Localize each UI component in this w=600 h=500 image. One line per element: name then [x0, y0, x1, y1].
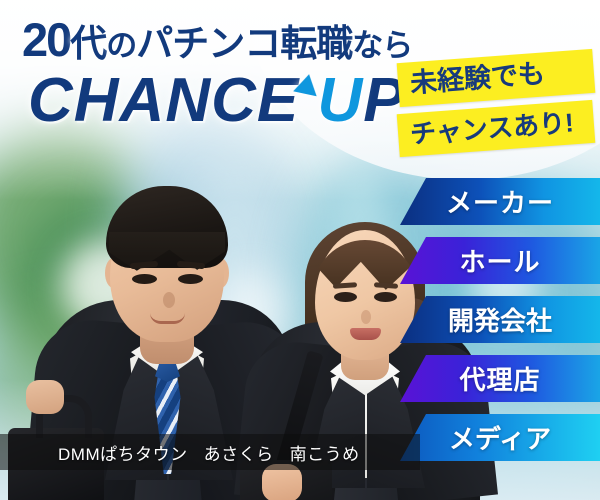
catch-badge: 未経験でも チャンスあり! — [398, 56, 594, 150]
caption-name-2: 南こうめ — [290, 440, 360, 465]
category-label: 代理店 — [459, 360, 540, 397]
category-list: メーカー ホール 開発会社 代理店 メディア — [400, 178, 600, 473]
headline-number: 20 — [22, 13, 70, 66]
caption-site: DMMぱちタウン — [58, 440, 188, 465]
chance-up-logo: CHANCE UP — [28, 70, 406, 132]
catch-badge-line2: チャンスあり! — [397, 100, 596, 157]
logo-letter-u: U — [317, 70, 363, 132]
category-button-maker[interactable]: メーカー — [400, 178, 600, 225]
headline-text: 20代のパチンコ転職なら — [22, 16, 412, 63]
man-nose — [163, 292, 175, 308]
woman-eye-left — [334, 292, 357, 302]
headline-part1: 代 — [70, 23, 106, 64]
man-mouth — [150, 313, 185, 324]
headline-part3: パチンコ転職 — [136, 23, 352, 64]
catch-badge-line1: 未経験でも — [397, 49, 596, 107]
caption-bar: DMMぱちタウン あさくら 南こうめ — [0, 434, 420, 470]
category-button-hall[interactable]: ホール — [400, 237, 600, 284]
man-hand — [26, 380, 64, 414]
category-button-agency[interactable]: 代理店 — [400, 355, 600, 402]
recruitment-banner[interactable]: 20代のパチンコ転職なら CHANCE UP 未経験でも チャンスあり! メーカ… — [0, 0, 600, 500]
woman-mouth — [350, 328, 381, 340]
woman-eye-right — [374, 292, 397, 302]
logo-word-chance: CHANCE — [28, 66, 299, 135]
caption-name-1: あさくら — [204, 440, 274, 465]
category-button-media[interactable]: メディア — [400, 414, 600, 461]
category-button-development[interactable]: 開発会社 — [400, 296, 600, 343]
category-label: 開発会社 — [448, 301, 552, 338]
man-eye-left — [132, 274, 157, 284]
woman-nose — [361, 310, 371, 324]
category-label: ホール — [459, 242, 540, 279]
category-label: メディア — [449, 419, 551, 456]
man-eye-right — [178, 274, 203, 284]
category-label: メーカー — [446, 183, 554, 220]
headline-part2: の — [106, 28, 136, 63]
